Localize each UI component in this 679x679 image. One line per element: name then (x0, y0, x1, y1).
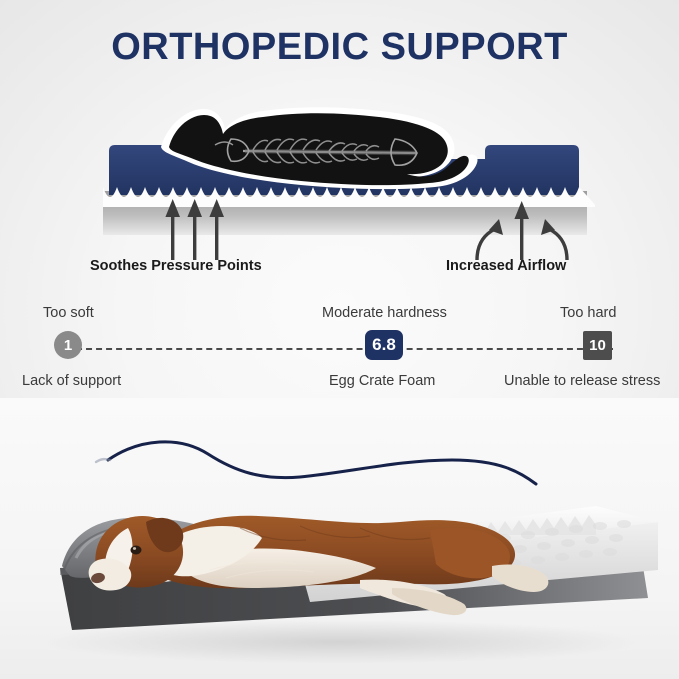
infographic-page: ORTHOPEDIC SUPPORT (0, 0, 679, 679)
product-photo (0, 398, 679, 679)
scale-marker-max: 10 (583, 331, 612, 360)
scale-label-moderate-hardness: Moderate hardness (322, 305, 447, 321)
label-increased-airflow: Increased Airflow (446, 258, 566, 274)
scale-marker-value: 6.8 (365, 330, 403, 360)
scale-label-lack-of-support: Lack of support (22, 373, 121, 389)
scale-label-egg-crate-foam: Egg Crate Foam (329, 373, 435, 389)
page-title: ORTHOPEDIC SUPPORT (0, 26, 679, 69)
mattress-cross-section-diagram (95, 95, 595, 260)
scale-label-unable-to-release-stress: Unable to release stress (504, 373, 660, 389)
hardness-scale: Too soft Moderate hardness Too hard Lack… (0, 305, 679, 395)
label-soothes-pressure-points: Soothes Pressure Points (90, 258, 262, 274)
scale-bottom-labels: Lack of support Egg Crate Foam Unable to… (0, 373, 679, 395)
scale-dashed-line (66, 348, 613, 350)
scale-label-too-hard: Too hard (560, 305, 616, 321)
pressure-point-arrows (165, 199, 224, 260)
scale-label-too-soft: Too soft (43, 305, 94, 321)
scale-track (66, 347, 613, 351)
scale-top-labels: Too soft Moderate hardness Too hard (0, 305, 679, 327)
scale-marker-min: 1 (54, 331, 82, 359)
